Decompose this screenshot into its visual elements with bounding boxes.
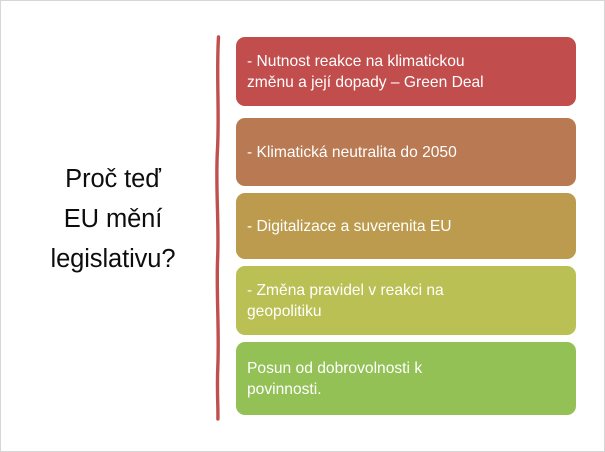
slide-canvas: Proč teď EU mění legislativu? - Nutnost … — [0, 0, 605, 452]
list-item-line-2: geopolitiku — [247, 301, 565, 322]
list-item[interactable]: - Nutnost reakce na klimatickou změnu a … — [236, 37, 576, 106]
list-item-line-2: povinnosti. — [247, 379, 565, 400]
list-item[interactable]: - Digitalizace a suverenita EU — [236, 193, 576, 259]
page-title: Proč teď EU mění legislativu? — [15, 159, 211, 279]
list-item-line-1: - Digitalizace a suverenita EU — [247, 216, 565, 237]
list-item-line-1: - Změna pravidel v reakci na — [247, 280, 565, 301]
page-title-line-3: legislativu? — [15, 239, 211, 279]
bullet-box-list: - Nutnost reakce na klimatickou změnu a … — [236, 37, 576, 415]
page-title-line-1: Proč teď — [15, 159, 211, 199]
list-item-line-1: - Klimatická neutralita do 2050 — [247, 142, 565, 163]
list-item[interactable]: - Změna pravidel v reakci na geopolitiku — [236, 266, 576, 335]
list-item[interactable]: Posun od dobrovolnosti k povinnosti. — [236, 342, 576, 415]
list-item-line-1: Posun od dobrovolnosti k — [247, 358, 565, 379]
wavy-red-vertical-line-icon — [207, 35, 229, 421]
list-item[interactable]: - Klimatická neutralita do 2050 — [236, 118, 576, 186]
page-title-line-2: EU mění — [15, 199, 211, 239]
list-item-line-1: - Nutnost reakce na klimatickou — [247, 51, 565, 72]
list-item-line-2: změnu a její dopady – Green Deal — [247, 72, 565, 93]
